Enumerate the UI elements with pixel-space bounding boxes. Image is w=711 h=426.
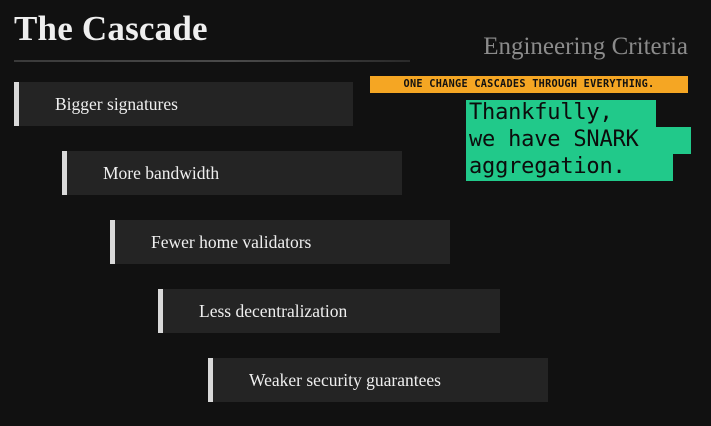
cascade-step-label: More bandwidth — [67, 163, 219, 184]
criteria-heading: Engineering Criteria — [483, 33, 688, 61]
cascade-step-label: Fewer home validators — [115, 232, 311, 253]
page-title: The Cascade — [14, 8, 208, 49]
cascade-step: Weaker security guarantees — [208, 358, 548, 402]
slide-canvas: The Cascade Engineering Criteria ONE CHA… — [0, 0, 711, 426]
cascade-step-label: Weaker security guarantees — [213, 370, 441, 391]
snark-callout-line: Thankfully, — [466, 100, 656, 127]
cascade-step: Less decentralization — [158, 289, 500, 333]
cascade-step: More bandwidth — [62, 151, 402, 195]
title-divider — [14, 60, 410, 62]
cascade-step-label: Bigger signatures — [19, 94, 178, 115]
cascade-banner-text: ONE CHANGE CASCADES THROUGH EVERYTHING. — [404, 79, 655, 90]
cascade-step: Fewer home validators — [110, 220, 450, 264]
snark-callout-line: aggregation. — [466, 154, 673, 181]
cascade-step-label: Less decentralization — [163, 301, 347, 322]
cascade-step: Bigger signatures — [14, 82, 353, 126]
snark-callout: Thankfully,we have SNARKaggregation. — [466, 100, 691, 181]
snark-callout-line: we have SNARK — [466, 127, 691, 154]
cascade-banner: ONE CHANGE CASCADES THROUGH EVERYTHING. — [370, 76, 688, 93]
